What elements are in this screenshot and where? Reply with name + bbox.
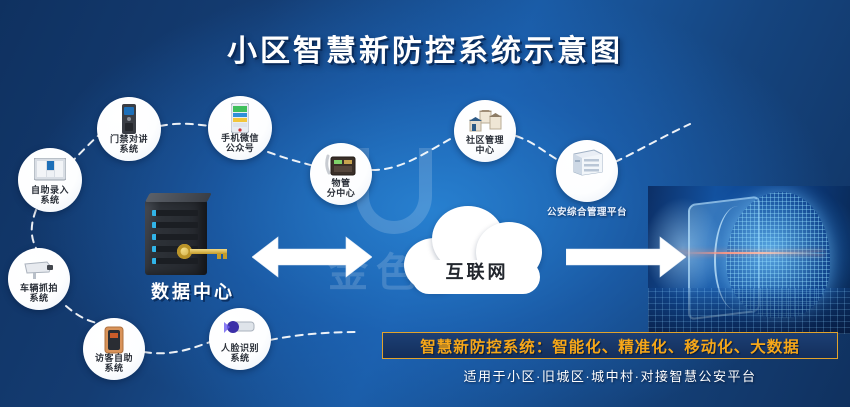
node-door-intercom[interactable]: 门禁对讲系统 <box>97 97 161 161</box>
node-vehicle-capture[interactable]: 车辆抓拍系统 <box>8 248 70 310</box>
node-label: 访客自助系统 <box>83 353 145 373</box>
node-visitor-self-service[interactable]: 访客自助系统 <box>83 318 145 380</box>
link-visitor-face <box>144 342 210 353</box>
link-police-right <box>615 124 690 162</box>
node-label: 人脸识别系统 <box>209 343 271 363</box>
server-rack-icon <box>145 200 207 275</box>
door-intercom-icon <box>112 104 146 134</box>
community-buildings-icon <box>468 107 502 137</box>
node-label: 车辆抓拍系统 <box>8 283 70 303</box>
rack-top <box>145 193 212 202</box>
link-door-wechat <box>160 124 210 126</box>
banner: 智慧新防控系统：智能化、精准化、移动化、大数据 <box>382 332 838 359</box>
double-headed-arrow-icon <box>252 235 372 279</box>
banner-headline: 智慧新防控系统：智能化、精准化、移动化、大数据 <box>420 335 800 357</box>
desk-phone-icon <box>324 150 358 180</box>
node-self-service-entry[interactable]: 自助录入系统 <box>18 148 82 212</box>
node-label: 物管分中心 <box>310 178 372 198</box>
node-label: 自助录入系统 <box>18 185 82 205</box>
node-police-platform[interactable]: 公安综合管理平台 <box>556 140 618 202</box>
node-face-recognition[interactable]: 人脸识别系统 <box>209 308 271 370</box>
smartphone-wechat-icon <box>223 103 257 133</box>
data-center: 数据中心 <box>133 200 253 300</box>
diagram-canvas: 金色巨腾 小区智慧新防控系统示意图 门禁对讲系统 <box>0 0 850 407</box>
node-label: 社区管理中心 <box>454 135 516 155</box>
face-scanner-icon <box>223 315 257 345</box>
link-selfentry-plate <box>32 210 38 252</box>
key-icon <box>177 244 227 258</box>
cloud-label: 互联网 <box>398 258 556 284</box>
cctv-camera-icon <box>22 255 56 285</box>
rack-bay <box>152 210 198 216</box>
node-property-sub-center[interactable]: 物管分中心 <box>310 143 372 205</box>
node-label: 手机微信公众号 <box>208 133 272 153</box>
node-wechat-official-account[interactable]: 手机微信公众号 <box>208 96 272 160</box>
cloud-icon: 互联网 <box>398 198 556 298</box>
rack-bay <box>152 258 198 264</box>
node-community-management-center[interactable]: 社区管理中心 <box>454 100 516 162</box>
key-shaft <box>190 249 227 254</box>
right-arrow-icon <box>566 235 686 279</box>
link-community-police <box>516 136 558 160</box>
rack-bay <box>152 222 198 228</box>
link-wechat-property <box>268 152 314 166</box>
rack-bay <box>152 234 198 240</box>
link-face-banner <box>270 332 356 340</box>
key-tooth <box>217 253 221 259</box>
self-service-kiosk-icon <box>33 155 67 185</box>
link-property-community <box>372 138 452 170</box>
visitor-terminal-icon <box>97 325 131 355</box>
link-plate-visitor <box>66 306 102 324</box>
banner-subtitle: 适用于小区·旧城区·城中村·对接智慧公安平台 <box>382 366 838 385</box>
police-server-icon <box>570 147 604 177</box>
data-center-label: 数据中心 <box>127 278 259 304</box>
node-label: 门禁对讲系统 <box>97 134 161 154</box>
key-tooth <box>223 253 227 259</box>
